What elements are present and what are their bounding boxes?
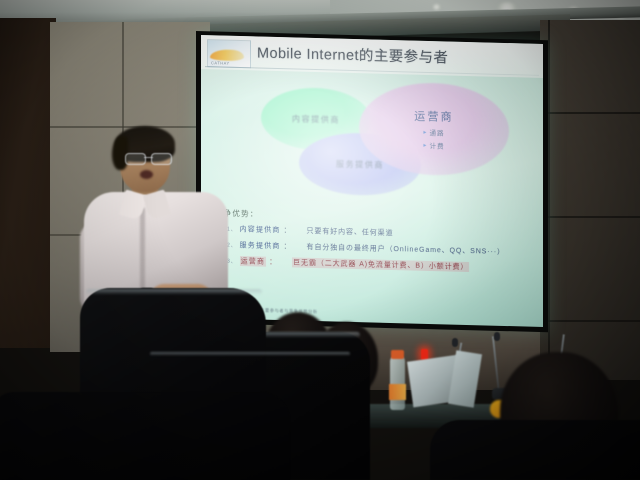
company-logo-icon: CATHAY xyxy=(207,39,251,68)
bullet-term: 运营商 xyxy=(240,256,267,267)
slide-bullet-row: 1、 内容提供商 ： 只要有好内容、任何渠道 xyxy=(227,224,533,242)
water-bottle-cap xyxy=(391,350,404,359)
bullet-separator: ： xyxy=(269,257,277,267)
bullet-term: 内容提供商 xyxy=(240,224,281,235)
venn-label-operator: 运营商 xyxy=(414,108,454,125)
slide-bullet-row-highlighted: 3、 运营商 ： 巨无霸（二大武器 A)免流量计费、B）小额计费） xyxy=(227,256,533,274)
logo-wordmark: CATHAY xyxy=(211,60,230,65)
microphone-head xyxy=(494,332,500,341)
bullet-description: 只要有好内容、任何渠道 xyxy=(307,226,394,238)
logo-swoosh-icon xyxy=(210,49,244,61)
chair-edge-highlight xyxy=(86,289,262,295)
chair-arm-highlight xyxy=(150,352,350,356)
conference-chair xyxy=(430,420,640,480)
slide-bullet-row: 2、 服务提供商 ： 有自分独自の最终用户（OnlineGame、QQ、SNS·… xyxy=(227,240,533,258)
slide-title: Mobile Internet的主要参与者 xyxy=(257,41,532,69)
glasses-icon xyxy=(125,153,172,163)
bullet-arrow-icon: ▸ xyxy=(423,141,427,148)
bullet-description: 有自分独自の最终用户（OnlineGame、QQ、SNS···） xyxy=(307,242,505,257)
venn-label-content-provider: 内容提供商 xyxy=(292,113,340,125)
venn-operator-content: 运营商 ▸ 通路 ▸ 计费 xyxy=(359,81,509,177)
glasses-lens-left xyxy=(125,153,146,165)
venn-diagram: 内容提供商 服务提供商 运营商 ▸ 通路 ▸ 计费 xyxy=(201,71,543,212)
water-bottle xyxy=(390,356,405,410)
water-bottle-label xyxy=(389,384,406,400)
glasses-bridge xyxy=(144,157,153,158)
presenter-mouth xyxy=(140,170,153,179)
wall-left-panel xyxy=(0,18,56,348)
bullet-arrow-icon: ▸ xyxy=(423,128,427,135)
bullet-number: 2、 xyxy=(227,242,237,249)
venn-operator-bullet-2: ▸ 计费 xyxy=(423,140,444,151)
venn-operator-bullet-1-label: 通路 xyxy=(430,127,445,137)
bullet-separator: ： xyxy=(284,241,292,251)
microphone-head xyxy=(452,338,458,347)
glasses-lens-right xyxy=(151,153,172,165)
bullet-term: 服务提供商 xyxy=(240,240,281,251)
bullet-description: 巨无霸（二大武器 A)免流量计费、B）小额计费） xyxy=(292,257,469,272)
photo-scene: CATHAY Mobile Internet的主要参与者 内容提供商 服务提供商… xyxy=(0,0,640,480)
slide-body: 竞争优势： 1、 内容提供商 ： 只要有好内容、任何渠道 2、 服务提供商 ： … xyxy=(215,207,533,279)
projection-screen: CATHAY Mobile Internet的主要参与者 内容提供商 服务提供商… xyxy=(201,35,543,327)
conference-chair xyxy=(0,392,290,480)
venn-operator-bullet-1: ▸ 通路 xyxy=(423,127,444,138)
ceiling-light-6 xyxy=(432,4,441,10)
venn-operator-bullet-2-label: 计费 xyxy=(430,140,445,150)
bullet-number: 1、 xyxy=(227,226,237,233)
bullet-number: 3、 xyxy=(227,258,237,265)
bullet-separator: ： xyxy=(284,225,292,235)
wall-right-tile xyxy=(540,20,640,380)
